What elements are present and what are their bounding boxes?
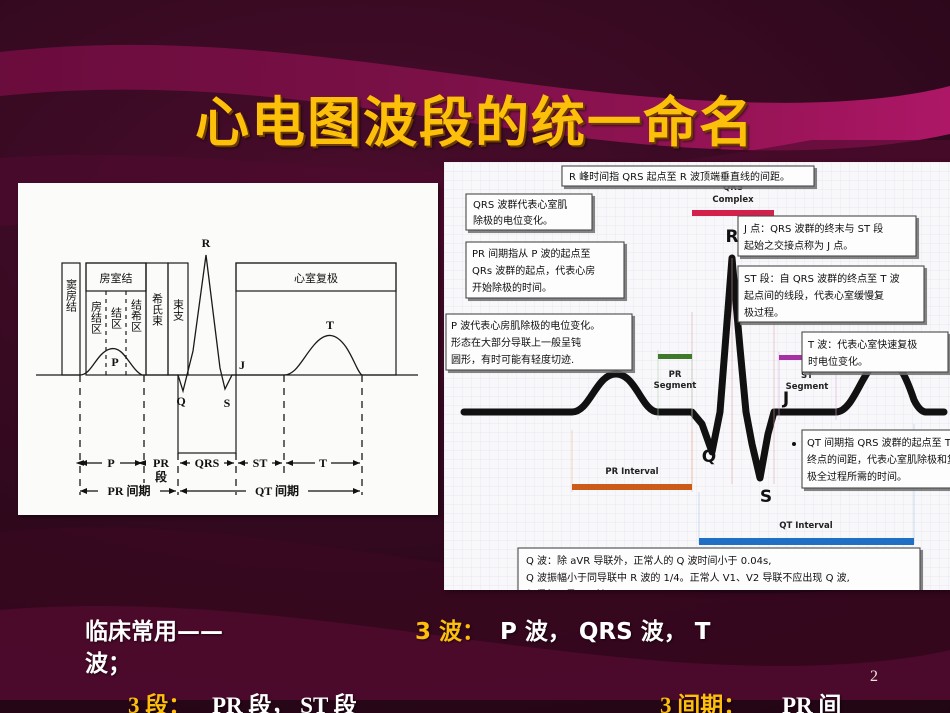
callout-q-wave-meaning: Q 波：除 aVR 导联外，正常人的 Q 波时间小于 0.04s, Q 波振幅小… bbox=[518, 548, 920, 590]
measure-label-qt-interval: QT 间期 bbox=[255, 483, 299, 498]
callout-pr-interval-l2: QRs 波群的起点，代表心房 bbox=[472, 264, 595, 277]
bottom-line1-lead: 临床常用—— bbox=[85, 612, 223, 646]
callout-st-segment-l2: 起点间的线段，代表心室缓慢复 bbox=[744, 289, 884, 302]
right-ecg-figure: .cb{fill:#fdfdfd;stroke:#4a4a4a;stroke-w… bbox=[444, 162, 950, 590]
bottom-clipped-row: 3 段： PR 段， ST 段 3 间期： PR 间 bbox=[0, 692, 950, 713]
left-ecg-figure: .ln{stroke:#1a1a1a;stroke-width:1.3;fill… bbox=[18, 183, 438, 515]
label-nh-zone: 结希区 bbox=[130, 299, 143, 332]
bottom-line2: 波； bbox=[85, 644, 131, 678]
callout-t-wave-l2: 时电位变化。 bbox=[808, 355, 868, 368]
wave-label-q: Q bbox=[702, 447, 716, 467]
label-an-zone: 房结区 bbox=[90, 301, 103, 334]
bottom-line1-count: 3 波： bbox=[415, 612, 485, 646]
callout-qt-interval-meaning: QT 间期指 QRS 波群的起点至 T 波 终点的间距，代表心室肌除极和复 极全… bbox=[802, 430, 950, 488]
slide-canvas: 心电图波段的统一命名 .ln{stroke:#1a1a1a;stroke-wid… bbox=[0, 0, 950, 713]
callout-pr-interval-l1: PR 间期指从 P 波的起点至 bbox=[472, 247, 591, 260]
marker-label-pr-segment-1: PR bbox=[669, 370, 682, 380]
label-his-bundle: 希氏束 bbox=[151, 292, 164, 327]
label-av-node: 房室结 bbox=[100, 271, 133, 285]
callout-qrs-meaning-l2: 除极的电位变化。 bbox=[473, 214, 553, 227]
wave-label-j: J bbox=[782, 389, 789, 409]
wave-label-q: Q bbox=[176, 394, 185, 408]
callout-p-wave-l2: 形态在大部分导联上一般呈钝 bbox=[451, 336, 581, 349]
callout-qrs-meaning: QRS 波群代表心室肌 除极的电位变化。 bbox=[466, 194, 592, 230]
page-number: 2 bbox=[870, 668, 878, 686]
wave-label-j: J bbox=[239, 358, 245, 372]
callout-t-wave-l1: T 波：代表心室快速复极 bbox=[807, 338, 917, 351]
marker-label-pr-interval: PR Interval bbox=[605, 467, 658, 477]
bottom-line1-items: P 波， QRS 波， T bbox=[500, 612, 710, 646]
callout-st-segment-l1: ST 段：自 QRS 波群的终点至 T 波 bbox=[744, 272, 900, 285]
wave-label-r: R bbox=[202, 236, 211, 250]
page-title: 心电图波段的统一命名 bbox=[0, 78, 950, 157]
callout-qt-bullet bbox=[792, 442, 796, 446]
marker-label-qt-interval: QT Interval bbox=[779, 521, 832, 531]
callout-r-peak-time: R 峰时间指 QRS 起点至 R 波顶端垂直线的间距。 bbox=[562, 166, 814, 186]
label-bundle-branch: 束支 bbox=[172, 299, 185, 322]
wave-label-s: S bbox=[224, 396, 231, 410]
callout-qt-interval-l1: QT 间期指 QRS 波群的起点至 T 波 bbox=[807, 436, 950, 449]
label-sinus-node: 窦房结 bbox=[65, 279, 78, 313]
callout-j-point-l1: J 点：QRS 波群的终末与 ST 段 bbox=[743, 222, 883, 235]
measure-label-pr-interval: PR 间期 bbox=[108, 483, 151, 498]
bottom-line3-right-items: PR 间 bbox=[782, 692, 841, 713]
marker-label-pr-segment-2: Segment bbox=[654, 381, 697, 391]
wave-label-p: P bbox=[111, 355, 118, 369]
marker-label-qrs-complex-2: Complex bbox=[712, 195, 754, 205]
marker-bar-qrs-complex bbox=[692, 210, 774, 216]
callout-qt-interval-l3: 极全过程所需的时间。 bbox=[807, 470, 907, 483]
marker-bar-pr-interval bbox=[572, 484, 692, 490]
callout-st-segment-l3: 极过程。 bbox=[744, 306, 784, 319]
callout-j-point-l2: 起始之交接点称为 J 点。 bbox=[744, 239, 853, 252]
measure-label-pr-segment-1: PR bbox=[153, 456, 169, 470]
callout-j-point-meaning: J 点：QRS 波群的终末与 ST 段 起始之交接点称为 J 点。 bbox=[738, 216, 916, 256]
callout-qrs-meaning-l1: QRS 波群代表心室肌 bbox=[473, 198, 567, 211]
measure-label-qrs: QRS bbox=[195, 456, 220, 470]
callout-q-wave-l2: Q 波振幅小于同导联中 R 波的 1/4。正常人 V1、V2 导联不应出现 Q … bbox=[526, 571, 850, 584]
measure-label-st: ST bbox=[253, 456, 268, 470]
left-ecg-svg: .ln{stroke:#1a1a1a;stroke-width:1.3;fill… bbox=[18, 183, 438, 515]
callout-r-peak-time-text: R 峰时间指 QRS 起点至 R 波顶端垂直线的间距。 bbox=[569, 170, 790, 183]
callout-p-wave-l1: P 波代表心房肌除极的电位变化。 bbox=[451, 319, 600, 332]
callout-qt-interval-l2: 终点的间距，代表心室肌除极和复 bbox=[807, 453, 950, 466]
measure-label-t: T bbox=[319, 456, 327, 470]
bottom-line3-right-count: 3 间期： bbox=[660, 692, 746, 713]
label-n-zone: 结区 bbox=[110, 307, 123, 329]
marker-label-st-segment-2: Segment bbox=[786, 382, 829, 392]
wave-label-r: R bbox=[725, 227, 738, 247]
right-ecg-svg: .cb{fill:#fdfdfd;stroke:#4a4a4a;stroke-w… bbox=[444, 162, 950, 590]
callout-p-wave-l3: 圆形，有时可能有轻度切迹. bbox=[451, 353, 574, 366]
callout-t-wave-meaning: T 波：代表心室快速复极 时电位变化。 bbox=[802, 332, 948, 372]
wave-label-s: S bbox=[760, 487, 772, 507]
marker-bar-qt-interval bbox=[699, 538, 914, 545]
wave-label-t: T bbox=[326, 318, 334, 332]
measure-label-pr-segment-2: 段 bbox=[155, 469, 168, 484]
marker-bar-pr-segment bbox=[658, 354, 692, 359]
callout-pr-interval-meaning: PR 间期指从 P 波的起点至 QRs 波群的起点，代表心房 开始除极的时间。 bbox=[466, 242, 624, 298]
callout-pr-interval-l3: 开始除极的时间。 bbox=[472, 281, 552, 294]
bottom-line3-left-count: 3 段： bbox=[128, 692, 191, 713]
callout-q-wave-l1: Q 波：除 aVR 导联外，正常人的 Q 波时间小于 0.04s, bbox=[526, 554, 771, 567]
measure-label-p: P bbox=[107, 456, 114, 470]
callout-p-wave-meaning: P 波代表心房肌除极的电位变化。 形态在大部分导联上一般呈钝 圆形，有时可能有轻… bbox=[446, 314, 632, 370]
bottom-line3-left-items: PR 段， ST 段 bbox=[212, 692, 357, 713]
label-ventricular-repolarization: 心室复极 bbox=[294, 271, 338, 285]
callout-st-segment-meaning: ST 段：自 QRS 波群的终点至 T 波 起点间的线段，代表心室缓慢复 极过程… bbox=[738, 266, 924, 322]
